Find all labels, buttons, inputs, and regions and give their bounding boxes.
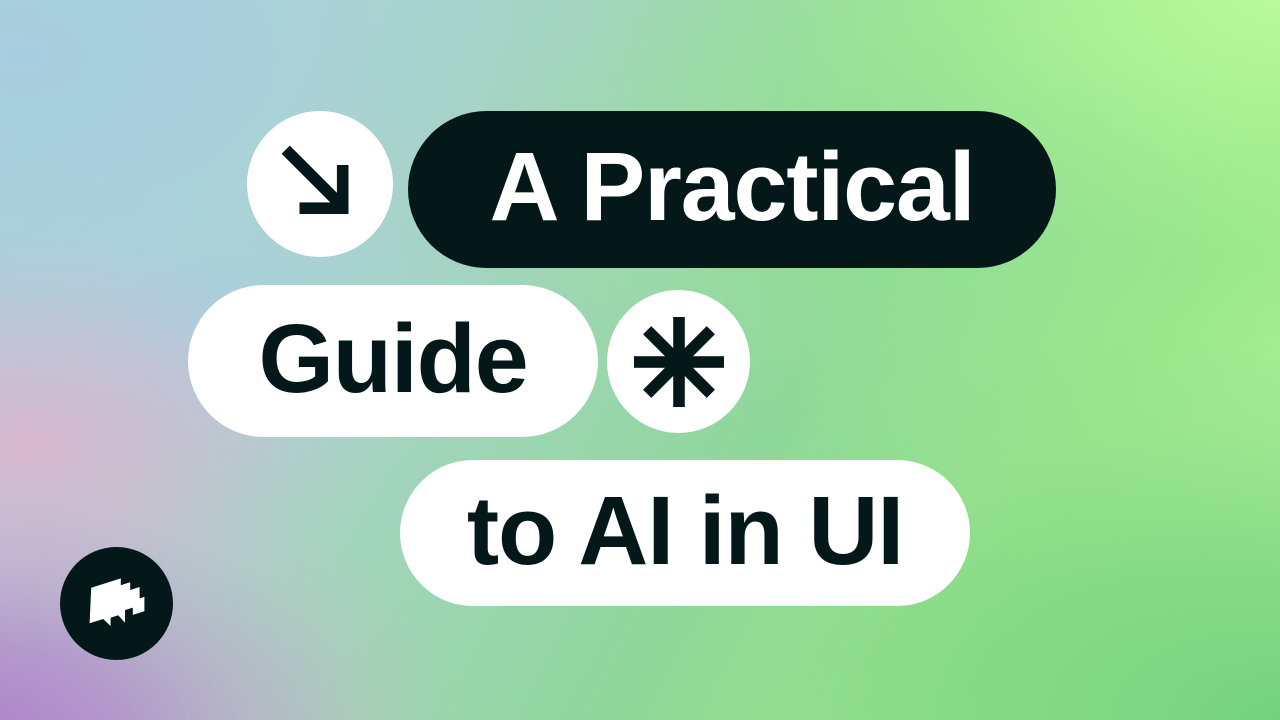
title-line-1: A Practical	[408, 111, 1056, 268]
title-line-3-text: to AI in UI	[467, 482, 903, 585]
title-line-2-text: Guide	[258, 310, 527, 413]
title-line-2: Guide	[188, 285, 598, 437]
brand-logo[interactable]	[60, 547, 173, 660]
title-line-1-text: A Practical	[489, 138, 974, 241]
poster-canvas: A Practical Guide to AI in UI	[0, 0, 1280, 720]
brand-logo-icon	[85, 574, 149, 634]
arrow-down-right-icon	[247, 111, 393, 257]
title-line-3: to AI in UI	[400, 460, 970, 606]
asterisk-icon	[607, 290, 750, 433]
